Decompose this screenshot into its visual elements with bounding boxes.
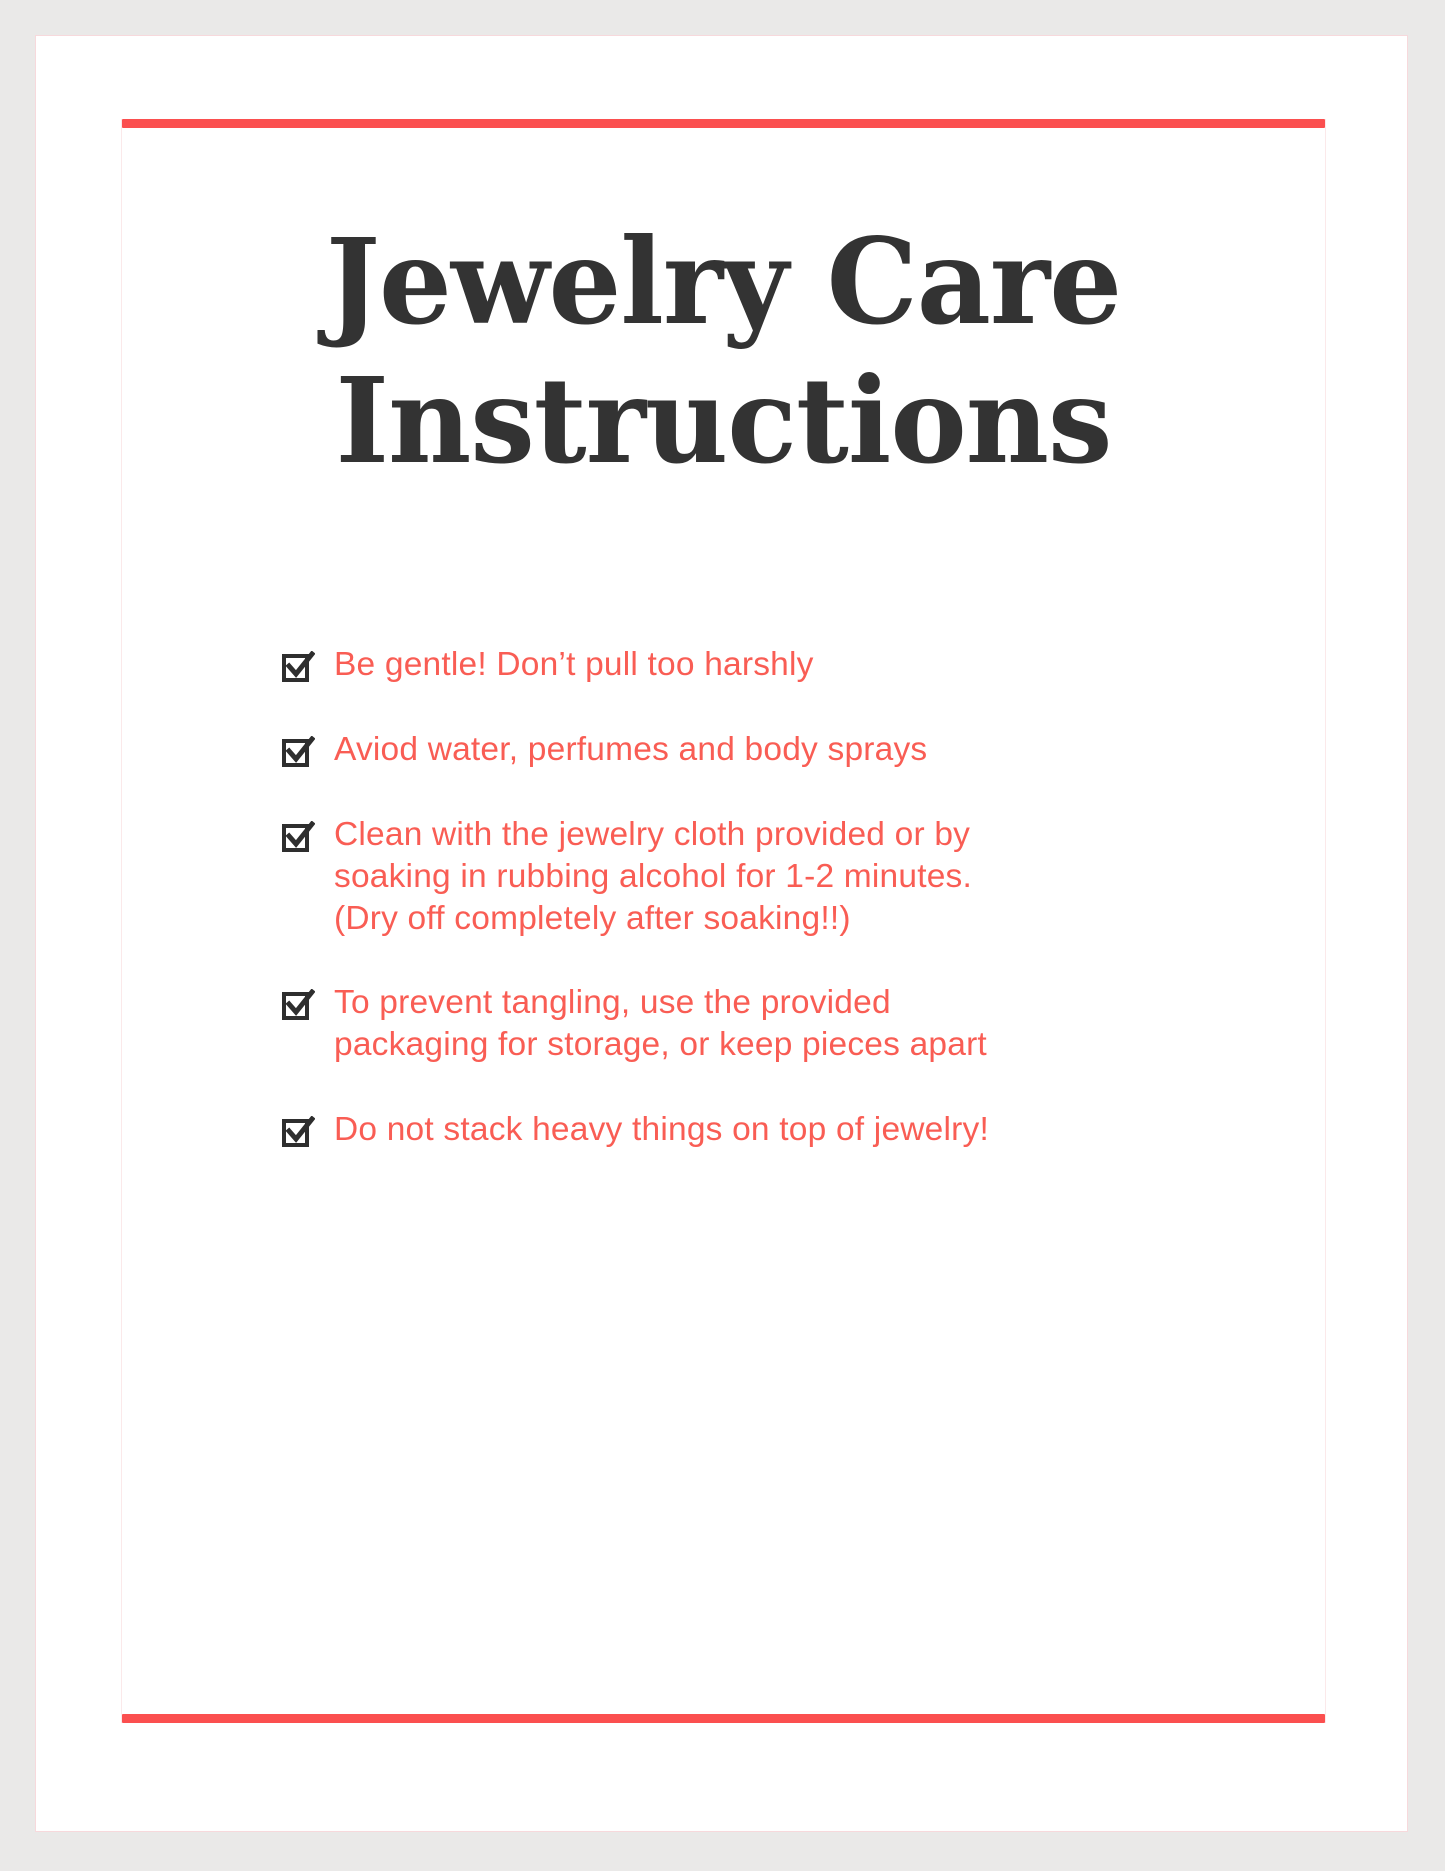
- checked-checkbox-icon: [282, 651, 313, 685]
- list-item: Do not stack heavy things on top of jewe…: [282, 1109, 1212, 1151]
- page-title: Jewelry Care Instructions: [122, 212, 1325, 490]
- checked-checkbox-icon: [282, 736, 313, 770]
- card-frame: Jewelry Care Instructions Be gentle! Don…: [121, 119, 1326, 1723]
- list-item: Clean with the jewelry cloth provided or…: [282, 814, 1212, 940]
- list-item-label: To prevent tangling, use the provided pa…: [334, 982, 987, 1066]
- list-item-label: Be gentle! Don’t pull too harshly: [334, 644, 814, 686]
- list-item-label: Aviod water, perfumes and body sprays: [334, 729, 927, 771]
- list-item: Be gentle! Don’t pull too harshly: [282, 644, 1212, 686]
- page-title-line-1: Jewelry Care: [140, 212, 1307, 351]
- list-item-label: Clean with the jewelry cloth provided or…: [334, 814, 972, 940]
- top-accent-rule: [122, 119, 1325, 128]
- checked-checkbox-icon: [282, 821, 313, 855]
- checked-checkbox-icon: [282, 1116, 313, 1150]
- list-item: To prevent tangling, use the provided pa…: [282, 982, 1212, 1066]
- page-sheet: Jewelry Care Instructions Be gentle! Don…: [35, 35, 1408, 1832]
- list-item-label: Do not stack heavy things on top of jewe…: [334, 1109, 989, 1151]
- list-item: Aviod water, perfumes and body sprays: [282, 729, 1212, 771]
- page-title-line-2: Instructions: [140, 351, 1307, 490]
- care-instructions-checklist: Be gentle! Don’t pull too harshly Aviod …: [282, 644, 1212, 1151]
- checked-checkbox-icon: [282, 989, 313, 1023]
- bottom-accent-rule: [122, 1714, 1325, 1723]
